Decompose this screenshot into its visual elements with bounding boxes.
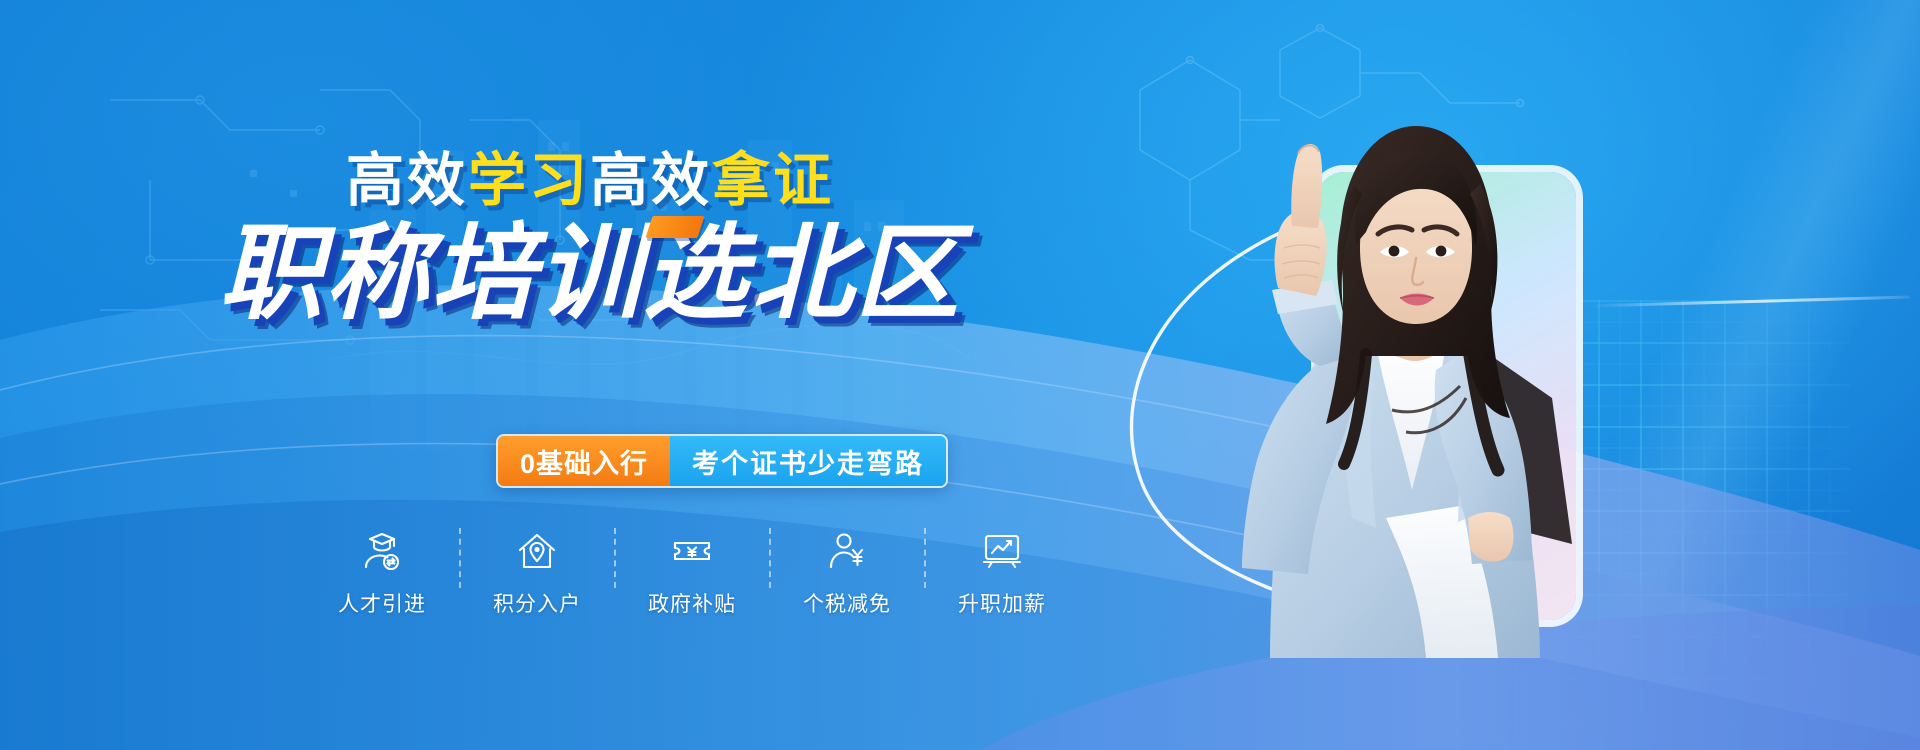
headline-text: 高效学习高效拿证 <box>0 152 1180 210</box>
promo-banner: 高效学习高效拿证 职称培训选北区 0基础入行 考个证书少走弯路 <box>0 0 1920 750</box>
person-yuan-icon <box>825 522 869 580</box>
feature-label: 人才引进 <box>338 588 426 618</box>
feature-item-points-residency[interactable]: 积分入户 <box>477 522 597 618</box>
headline-segment-4: 拿证 <box>712 148 834 213</box>
feature-divider <box>769 528 771 588</box>
slogan-pill[interactable]: 0基础入行 考个证书少走弯路 <box>496 434 948 488</box>
feature-label: 政府补贴 <box>648 588 736 618</box>
headline-segment-2: 学习 <box>468 148 590 213</box>
feature-item-promotion-raise[interactable]: 升职加薪 <box>942 522 1062 618</box>
main-title-pre: 职称培训 <box>219 216 643 332</box>
feature-item-government-subsidy[interactable]: 政府补贴 <box>632 522 752 618</box>
feature-divider <box>924 528 926 588</box>
feature-divider <box>614 528 616 588</box>
orange-accent-bar-icon <box>645 216 704 238</box>
slogan-pill-right-label: 考个证书少走弯路 <box>670 436 946 486</box>
feature-divider <box>459 528 461 588</box>
feature-list: 人才引进 积分入户 <box>322 522 1062 640</box>
main-title-accent-wrap: 选 <box>643 222 749 326</box>
feature-item-talent-introduction[interactable]: 人才引进 <box>322 522 442 618</box>
main-title: 职称培训选北区 <box>0 222 1180 326</box>
house-pin-icon <box>515 522 559 580</box>
feature-label: 个税减免 <box>803 588 891 618</box>
chart-board-icon <box>980 522 1024 580</box>
headline-segment-1: 高效 <box>346 148 468 213</box>
graduate-person-icon <box>360 522 404 580</box>
feature-item-tax-reduction[interactable]: 个税减免 <box>787 522 907 618</box>
feature-label: 积分入户 <box>493 588 581 618</box>
headline-segment-3: 高效 <box>590 148 712 213</box>
ticket-yuan-icon <box>670 522 714 580</box>
model-photo-woman-pointing <box>1180 98 1650 658</box>
main-title-post: 北区 <box>749 216 961 332</box>
feature-label: 升职加薪 <box>958 588 1046 618</box>
copy-block: 高效学习高效拿证 职称培训选北区 0基础入行 考个证书少走弯路 <box>0 0 1180 750</box>
slogan-pill-left-label: 0基础入行 <box>498 436 670 486</box>
